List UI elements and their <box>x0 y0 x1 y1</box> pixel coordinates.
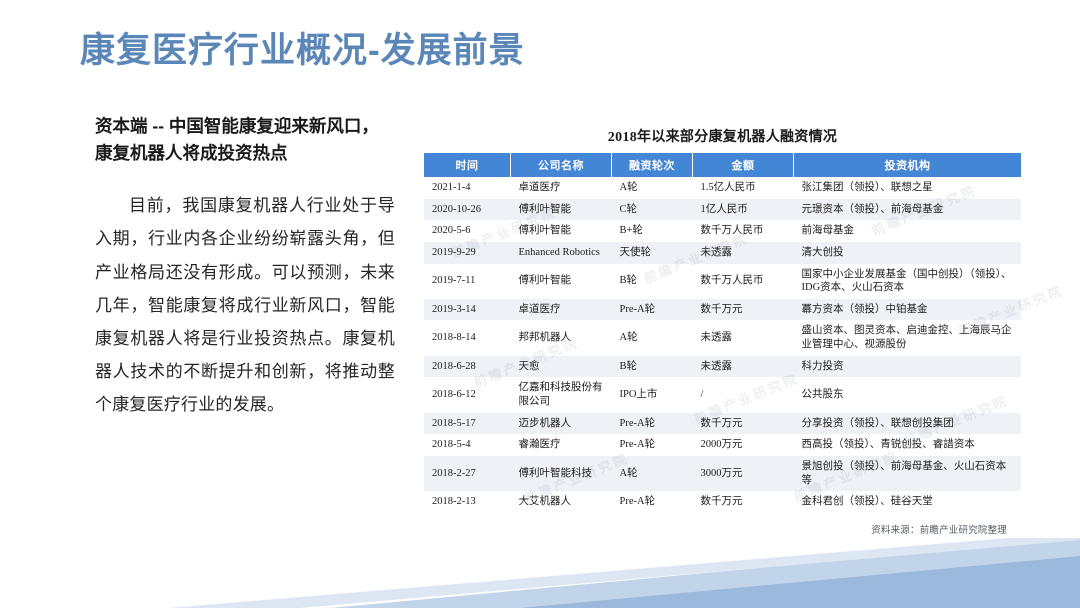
table-row: 2018-6-28天愈B轮未透露科力投资 <box>424 356 1021 378</box>
column-header-date: 时间 <box>424 153 511 177</box>
cell-company: Enhanced Robotics <box>511 242 612 264</box>
table-row: 2018-5-17迈步机器人Pre-A轮数千万元分享投资（领投）、联想创投集团 <box>424 413 1021 435</box>
cell-round: IPO上市 <box>612 377 693 412</box>
cell-amount: 1亿人民币 <box>693 199 794 221</box>
deco-band-light <box>330 538 1080 608</box>
cell-amount: 未透露 <box>693 320 794 355</box>
cell-company: 傅利叶智能 <box>511 220 612 242</box>
cell-investor: 张江集团（领投）、联想之星 <box>794 177 1022 199</box>
column-header-round: 融资轮次 <box>612 153 693 177</box>
financing-table-block: 2018年以来部分康复机器人融资情况 时间 公司名称 融资轮次 金额 投资机构 … <box>424 126 1021 536</box>
cell-round: C轮 <box>612 199 693 221</box>
cell-investor: 金科君创（领投）、硅谷天堂 <box>794 491 1022 513</box>
cell-investor: 国家中小企业发展基金（国中创投）（领投）、IDG资本、火山石资本 <box>794 264 1022 299</box>
cell-amount: 1.5亿人民币 <box>693 177 794 199</box>
cell-investor: 分享投资（领投）、联想创投集团 <box>794 413 1022 435</box>
cell-round: B轮 <box>612 264 693 299</box>
cell-round: Pre-A轮 <box>612 413 693 435</box>
cell-amount: / <box>693 377 794 412</box>
cell-date: 2020-5-6 <box>424 220 511 242</box>
cell-amount: 2000万元 <box>693 434 794 456</box>
cell-investor: 景旭创投（领投）、前海母基金、火山石资本等 <box>794 456 1022 491</box>
cell-round: Pre-A轮 <box>612 491 693 513</box>
cell-date: 2018-2-13 <box>424 491 511 513</box>
left-text-column: 资本端 -- 中国智能康复迎来新风口，康复机器人将成投资热点 目前，我国康复机器… <box>95 113 395 421</box>
cell-company: 睿瀚医疗 <box>511 434 612 456</box>
cell-amount: 未透露 <box>693 356 794 378</box>
cell-amount: 未透露 <box>693 242 794 264</box>
table-title: 2018年以来部分康复机器人融资情况 <box>424 126 1021 146</box>
cell-date: 2019-7-11 <box>424 264 511 299</box>
cell-amount: 3000万元 <box>693 456 794 491</box>
cell-round: B轮 <box>612 356 693 378</box>
cell-company: 迈步机器人 <box>511 413 612 435</box>
cell-date: 2018-5-4 <box>424 434 511 456</box>
column-header-investor: 投资机构 <box>794 153 1022 177</box>
table-row: 2019-7-11傅利叶智能B轮数千万人民币国家中小企业发展基金（国中创投）（领… <box>424 264 1021 299</box>
table-row: 2020-10-26傅利叶智能C轮1亿人民币元璟资本（领投）、前海母基金 <box>424 199 1021 221</box>
cell-amount: 数千万元 <box>693 491 794 513</box>
cell-company: 傅利叶智能 <box>511 199 612 221</box>
cell-round: Pre-A轮 <box>612 299 693 321</box>
table-row: 2018-5-4睿瀚医疗Pre-A轮2000万元西高投（领投）、青锐创投、睿諎资… <box>424 434 1021 456</box>
cell-amount: 数千万人民币 <box>693 264 794 299</box>
table-header: 时间 公司名称 融资轮次 金额 投资机构 <box>424 153 1021 177</box>
cell-amount: 数千万人民币 <box>693 220 794 242</box>
cell-company: 亿嘉和科技股份有限公司 <box>511 377 612 412</box>
table-row: 2018-6-12亿嘉和科技股份有限公司IPO上市/公共股东 <box>424 377 1021 412</box>
cell-investor: 科力投资 <box>794 356 1022 378</box>
cell-round: Pre-A轮 <box>612 434 693 456</box>
table-row: 2021-1-4卓道医疗A轮1.5亿人民币张江集团（领投）、联想之星 <box>424 177 1021 199</box>
column-header-company: 公司名称 <box>511 153 612 177</box>
cell-company: 邦邦机器人 <box>511 320 612 355</box>
cell-amount: 数千万元 <box>693 299 794 321</box>
cell-investor: 前海母基金 <box>794 220 1022 242</box>
table-row: 2018-2-13大艾机器人Pre-A轮数千万元金科君创（领投）、硅谷天堂 <box>424 491 1021 513</box>
financing-table: 时间 公司名称 融资轮次 金额 投资机构 2021-1-4卓道医疗A轮1.5亿人… <box>424 153 1021 513</box>
cell-company: 卓道医疗 <box>511 177 612 199</box>
cell-investor: 冪方资本（领投）中铂基金 <box>794 299 1022 321</box>
cell-date: 2018-8-14 <box>424 320 511 355</box>
table-row: 2019-9-29Enhanced Robotics天使轮未透露清大创投 <box>424 242 1021 264</box>
deco-band-pale <box>168 538 1080 608</box>
cell-date: 2019-9-29 <box>424 242 511 264</box>
cell-date: 2018-6-12 <box>424 377 511 412</box>
cell-date: 2018-5-17 <box>424 413 511 435</box>
table-row: 2018-2-27傅利叶智能科技A轮3000万元景旭创投（领投）、前海母基金、火… <box>424 456 1021 491</box>
cell-round: A轮 <box>612 320 693 355</box>
cell-investor: 元璟资本（领投）、前海母基金 <box>794 199 1022 221</box>
table-row: 2018-8-14邦邦机器人A轮未透露盛山资本、图灵资本、启迪金控、上海辰马企业… <box>424 320 1021 355</box>
table-source-note: 资料来源：前瞻产业研究院整理 <box>424 522 1021 536</box>
column-header-amount: 金额 <box>693 153 794 177</box>
cell-investor: 盛山资本、图灵资本、启迪金控、上海辰马企业管理中心、视源股份 <box>794 320 1022 355</box>
body-paragraph: 目前，我国康复机器人行业处于导入期，行业内各企业纷纷崭露头角，但产业格局还没有形… <box>95 189 395 421</box>
cell-investor: 清大创投 <box>794 242 1022 264</box>
cell-company: 傅利叶智能 <box>511 264 612 299</box>
bottom-diagonal-decoration <box>0 538 1080 608</box>
cell-amount: 数千万元 <box>693 413 794 435</box>
cell-company: 天愈 <box>511 356 612 378</box>
cell-company: 大艾机器人 <box>511 491 612 513</box>
lead-heading: 资本端 -- 中国智能康复迎来新风口，康复机器人将成投资热点 <box>95 113 395 167</box>
deco-band-dark <box>520 556 1080 608</box>
cell-company: 卓道医疗 <box>511 299 612 321</box>
cell-date: 2018-6-28 <box>424 356 511 378</box>
table-row: 2019-3-14卓道医疗Pre-A轮数千万元冪方资本（领投）中铂基金 <box>424 299 1021 321</box>
cell-date: 2019-3-14 <box>424 299 511 321</box>
cell-round: 天使轮 <box>612 242 693 264</box>
slide-canvas: 康复医疗行业概况-发展前景 资本端 -- 中国智能康复迎来新风口，康复机器人将成… <box>0 0 1080 608</box>
cell-date: 2018-2-27 <box>424 456 511 491</box>
table-row: 2020-5-6傅利叶智能B+轮数千万人民币前海母基金 <box>424 220 1021 242</box>
cell-investor: 公共股东 <box>794 377 1022 412</box>
cell-investor: 西高投（领投）、青锐创投、睿諎资本 <box>794 434 1022 456</box>
cell-date: 2020-10-26 <box>424 199 511 221</box>
cell-date: 2021-1-4 <box>424 177 511 199</box>
cell-round: A轮 <box>612 456 693 491</box>
table-header-row: 时间 公司名称 融资轮次 金额 投资机构 <box>424 153 1021 177</box>
table-body: 2021-1-4卓道医疗A轮1.5亿人民币张江集团（领投）、联想之星2020-1… <box>424 177 1021 513</box>
cell-round: A轮 <box>612 177 693 199</box>
page-title: 康复医疗行业概况-发展前景 <box>80 30 525 72</box>
cell-round: B+轮 <box>612 220 693 242</box>
cell-company: 傅利叶智能科技 <box>511 456 612 491</box>
